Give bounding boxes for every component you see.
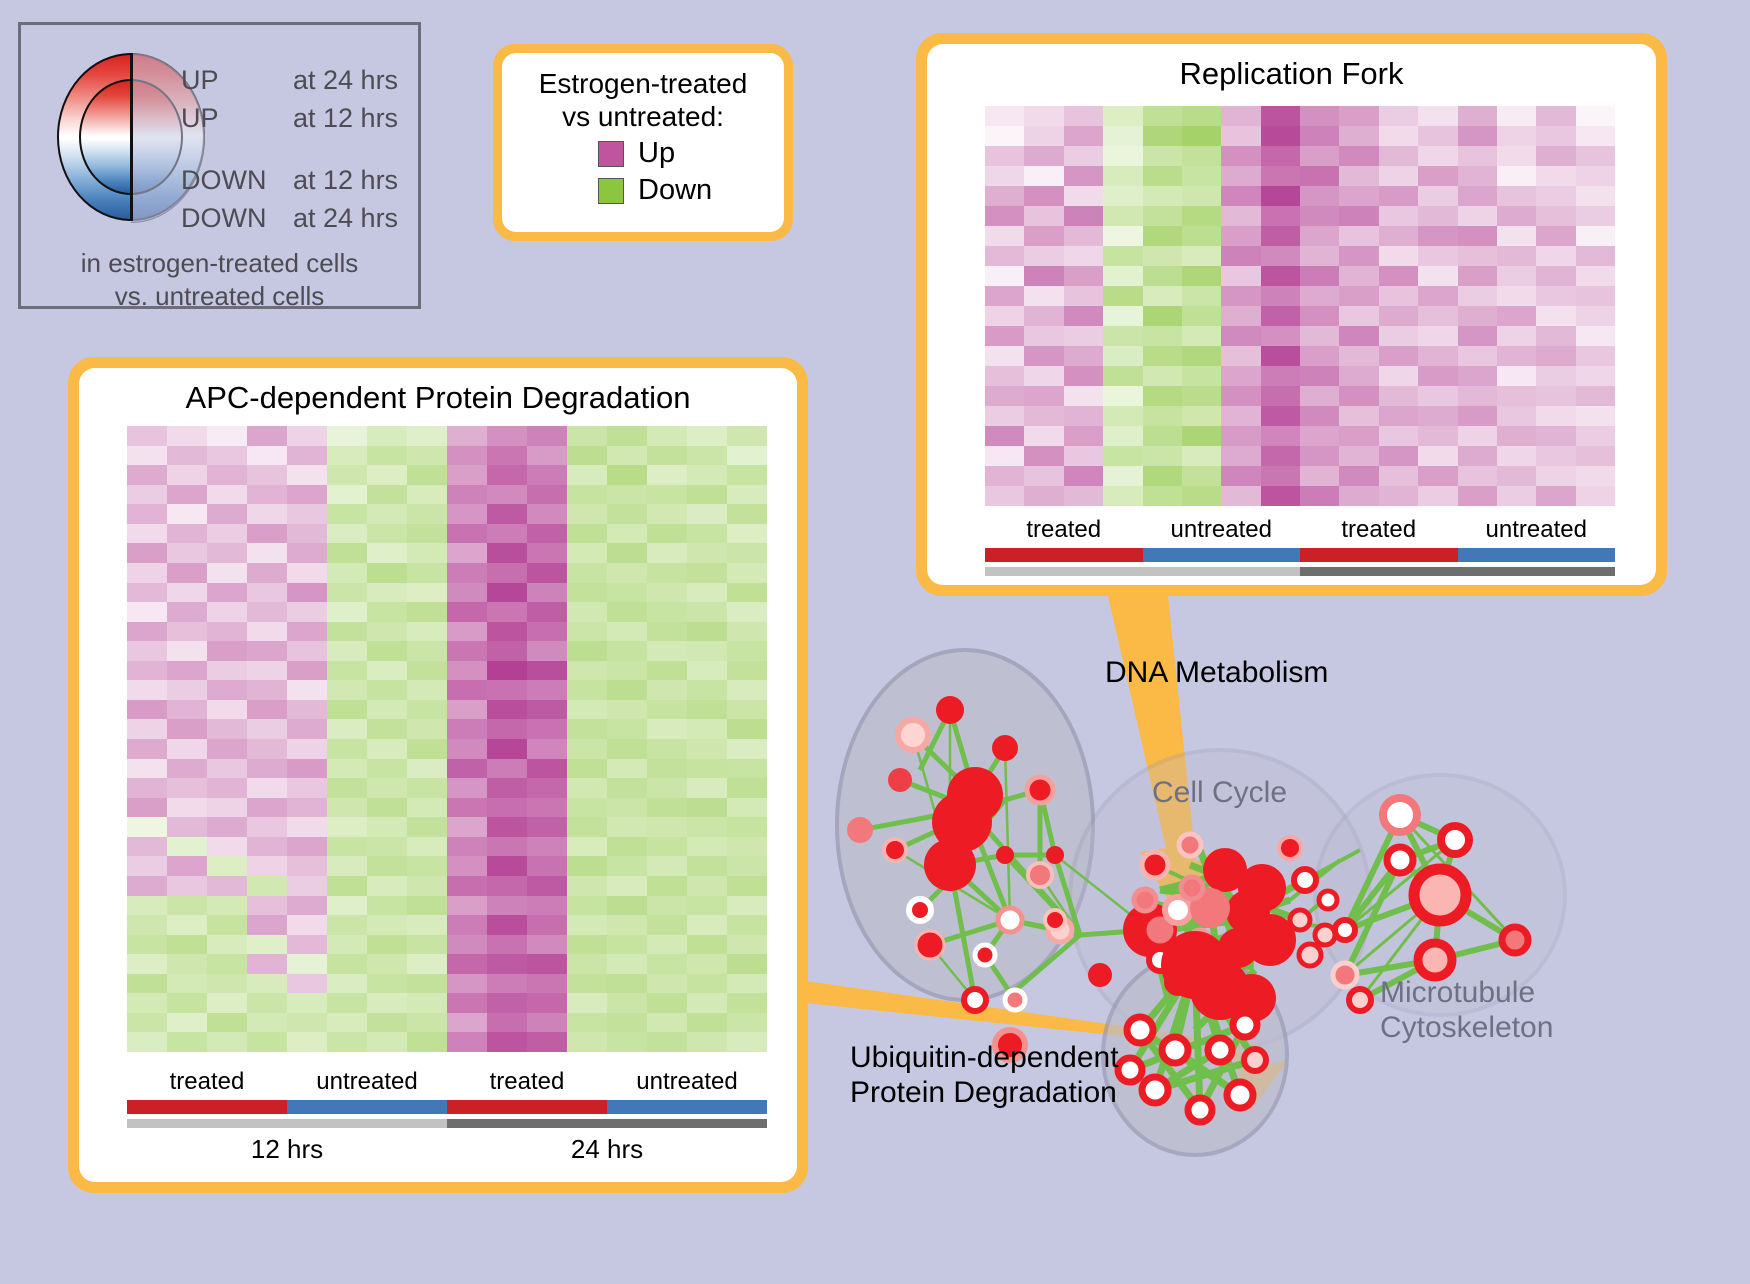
heatmap-cell [367,798,407,818]
heatmap-cell [1064,306,1103,326]
heatmap-cell [1143,146,1182,166]
heatmap-cell [1064,206,1103,226]
heatmap-cell [167,876,207,896]
heatmap-cell [287,583,327,603]
heatmap-cell [1418,166,1457,186]
heatmap-cell [1418,146,1457,166]
heatmap-cell [447,817,487,837]
heatmap-cell [407,915,447,935]
heatmap-cell [407,935,447,955]
timepoint-bar-segment [985,567,1300,576]
heatmap-cell [367,602,407,622]
treatment-bar-segment [127,1100,287,1114]
heatmap-cell [1418,406,1457,426]
heatmap-cell [1261,106,1300,126]
heatmap-cell [207,680,247,700]
timepoint-label: 12 hrs [985,582,1300,585]
heatmap-cell [1379,486,1418,506]
heatmap-cell [447,563,487,583]
heatmap-cell [1379,266,1418,286]
heatmap-cell [607,485,647,505]
heatmap-cell [1221,486,1260,506]
heatmap-cell [447,719,487,739]
heatmap-cell [287,602,327,622]
heatmap-cell [1536,166,1575,186]
heatmap-cell [607,563,647,583]
heatmap-cell [287,485,327,505]
heatmap-cell [447,426,487,446]
heatmap-cell [527,563,567,583]
heatmap-cell [1182,266,1221,286]
heatmap-cell [687,583,727,603]
heatmap-cell [647,661,687,681]
heatmap-cell [1103,386,1142,406]
heatmap-cell [1182,466,1221,486]
heatmap-cell [487,661,527,681]
heatmap-cell [327,876,367,896]
heatmap-cell [985,366,1024,386]
heatmap-cell [367,700,407,720]
heatmap-cell [727,739,767,759]
heatmap-cell [1064,286,1103,306]
heatmap-cell [1064,446,1103,466]
heatmap-cell [647,426,687,446]
heatmap-cell [1143,106,1182,126]
heatmap-cell [367,935,407,955]
heatmap-cell [1221,326,1260,346]
heatmap-cell [447,700,487,720]
heatmap-cell [567,739,607,759]
heatmap-cell [687,915,727,935]
heatmap-cell [607,798,647,818]
heatmap-cell [527,446,567,466]
heatmap-cell [407,1013,447,1033]
heatmap-cell [167,856,207,876]
heatmap-cell [1024,226,1063,246]
heatmap-cell [647,993,687,1013]
heatmap-cell [607,426,647,446]
heatmap-cell [247,680,287,700]
heatmap-cell [1458,426,1497,446]
heatmap-cell [247,896,287,916]
heatmap-cell [247,563,287,583]
heatmap-cell [687,602,727,622]
heatmap-cell [1536,306,1575,326]
heatmap-cell [1458,146,1497,166]
heatmap-cell [687,543,727,563]
heatmap-cell [327,641,367,661]
heatmap-cell [607,993,647,1013]
heatmap-cell [727,896,767,916]
heatmap-cell [985,246,1024,266]
heatmap-cell [247,465,287,485]
heatmap-cell [1576,106,1615,126]
heatmap-cell [287,641,327,661]
heatmap-cell [1339,146,1378,166]
heatmap-cell [1576,346,1615,366]
heatmap-cell [1458,266,1497,286]
heatmap-cell [1103,186,1142,206]
treatment-bar-segment [1300,548,1458,562]
heatmap-cell [127,485,167,505]
column-group-labels: treateduntreatedtreateduntreated [985,516,1615,544]
heatmap-cell [1497,366,1536,386]
heatmap-cell [207,837,247,857]
heatmap-cell [647,543,687,563]
heatmap-cell [127,446,167,466]
cluster-label-microtubule-cytoskeleton: Microtubule Cytoskeleton [1380,975,1553,1046]
heatmap-cell [647,1013,687,1033]
heatmap-cell [207,719,247,739]
heatmap-cell [985,286,1024,306]
heatmap-cell [607,661,647,681]
heatmap-cell [127,583,167,603]
heatmap-cell [1064,166,1103,186]
panel-annotations-replication-fork: treateduntreatedtreateduntreated 12 hrs2… [985,516,1615,585]
heatmap-cell [1576,406,1615,426]
heatmap-cell [527,935,567,955]
heatmap-cell [447,798,487,818]
heatmap-cell [1497,446,1536,466]
heatmap-cell [247,778,287,798]
heatmap-cell [1261,306,1300,326]
heatmap-cell [1458,246,1497,266]
heatmap-cell [367,778,407,798]
heatmap-cell [447,622,487,642]
heatmap-cell [1497,326,1536,346]
heatmap-cell [1458,106,1497,126]
heatmap-cell [1379,106,1418,126]
heatmap-cell [687,661,727,681]
heatmap-cell [1497,266,1536,286]
heatmap-cell [447,602,487,622]
heatmap-cell [127,504,167,524]
heatmap-cell [1024,386,1063,406]
heatmap-cell [1497,406,1536,426]
heatmap-cell [607,719,647,739]
heatmap-cell [1143,166,1182,186]
heatmap-cell [327,661,367,681]
heatmap-cell [527,719,567,739]
heatmap-cell [487,563,527,583]
heatmap-cell [1143,326,1182,346]
heatmap-cell [487,915,527,935]
heatmap-cell [1143,406,1182,426]
heatmap-cell [1143,306,1182,326]
heatmap-cell [985,266,1024,286]
heatmap-cell [207,641,247,661]
heatmap-cell [327,739,367,759]
heatmap-cell [567,563,607,583]
heatmap-cell [727,602,767,622]
heatmap-cell [407,485,447,505]
heatmap-cell [1458,206,1497,226]
heatmap-cell [647,446,687,466]
heatmap-cell [127,622,167,642]
heatmap-cell [1261,466,1300,486]
heatmap-cell [607,935,647,955]
heatmap-cell [1064,486,1103,506]
heatmap-cell [1300,366,1339,386]
heatmap-cell [1064,146,1103,166]
heatmap-cell [1536,106,1575,126]
heatmap-cell [167,778,207,798]
heatmap-cell [1024,306,1063,326]
heatmap-cell [1379,126,1418,146]
heatmap-cell [1103,206,1142,226]
heatmap-cell [327,935,367,955]
heatmap-cell [1143,266,1182,286]
heatmap-cell [1339,166,1378,186]
heatmap-cell [127,935,167,955]
heatmap-cell [647,622,687,642]
heatmap-cell [127,856,167,876]
heatmap-cell [1064,366,1103,386]
heatmap-cell [1182,106,1221,126]
heatmap-cell [607,1013,647,1033]
heatmap-cell [167,485,207,505]
panel-apc-dependent-protein-degradation: APC-dependent Protein Degradation treate… [68,357,808,1193]
heatmap-cell [287,935,327,955]
heatmap-cell [1103,246,1142,266]
heatmap-cell [727,426,767,446]
heatmap-cell [207,798,247,818]
heatmap-cell [1497,466,1536,486]
heatmap-cell [567,602,607,622]
heatmap-cell [327,524,367,544]
heatmap-cell [287,622,327,642]
heatmap-cell [127,719,167,739]
heatmap-cell [407,876,447,896]
heatmap-cell [287,543,327,563]
heatmap-cell [1300,226,1339,246]
heatmap-cell [327,563,367,583]
heatmap-cell [487,778,527,798]
heatmap-cell [1418,266,1457,286]
heatmap-cell [487,602,527,622]
heatmap-cell [207,935,247,955]
heatmap-cell [327,583,367,603]
heatmap-cell [127,661,167,681]
heatmap-cell [207,759,247,779]
heatmap-cell [1143,486,1182,506]
heatmap-cell [247,993,287,1013]
heatmap-cell [247,876,287,896]
heatmap-cell [1576,146,1615,166]
heatmap-cell [687,563,727,583]
heatmap-cell [1064,386,1103,406]
heatmap-cell [527,739,567,759]
heatmap-cell [287,426,327,446]
heatmap-cell [1497,226,1536,246]
heatmap-cell [1379,406,1418,426]
heatmap-cell [1221,286,1260,306]
cluster-label-cell-cycle: Cell Cycle [1152,775,1287,810]
heatmap-cell [727,504,767,524]
heatmap-cell [1379,346,1418,366]
heatmap-cell [527,465,567,485]
heatmap-cell [567,876,607,896]
heatmap-cell [1064,346,1103,366]
heatmap-cell [1458,226,1497,246]
heatmap-cell [1379,246,1418,266]
heatmap-cell [1221,406,1260,426]
heatmap-cell [487,524,527,544]
heatmap-cell [1458,446,1497,466]
heatmap-cell [1261,486,1300,506]
heatmap-cell [1536,126,1575,146]
heatmap-cell [1300,466,1339,486]
heatmap-cell [607,446,647,466]
heatmap-cell [607,876,647,896]
heatmap-cell [287,465,327,485]
heatmap-cell [247,661,287,681]
heatmap-cell [367,446,407,466]
heatmap-cell [1497,106,1536,126]
heatmap-cell [487,954,527,974]
heatmap-cell [1458,326,1497,346]
heatmap-cell [1064,466,1103,486]
heatmap-cell [1300,246,1339,266]
heatmap-cell [167,896,207,916]
heatmap-cell [1458,486,1497,506]
heatmap-cell [1536,186,1575,206]
heatmap-cell [127,1013,167,1033]
heatmap-cell [727,446,767,466]
heatmap-cell [287,915,327,935]
heatmap-cell [527,954,567,974]
heatmap-cell [1379,166,1418,186]
heatmap-cell [1379,386,1418,406]
heatmap-cell [487,680,527,700]
heatmap-cell [647,954,687,974]
heatmap-cell [487,856,527,876]
heatmap-cell [167,915,207,935]
heatmap-cell [1458,186,1497,206]
heatmap-cell [1418,426,1457,446]
heatmap-cell [407,661,447,681]
heatmap-cell [1300,486,1339,506]
heatmap-cell [1103,466,1142,486]
heatmap-cell [1261,426,1300,446]
heatmap-cell [1221,246,1260,266]
heatmap-cell [1261,186,1300,206]
heatmap-cell [407,993,447,1013]
heatmap-cell [247,446,287,466]
heatmap-cell [607,1032,647,1052]
heatmap-cell [327,798,367,818]
heatmap-cell [407,504,447,524]
heatmap-cell [1418,186,1457,206]
heatmap-cell [1300,306,1339,326]
heatmap-cell [247,1032,287,1052]
heatmap-cell [127,700,167,720]
heatmap-cell [1261,246,1300,266]
heatmap-cell [567,856,607,876]
heatmap-cell [167,641,207,661]
heatmap-cell [487,837,527,857]
heatmap-cell [1182,306,1221,326]
heatmap-cell [607,680,647,700]
heatmap-cell [407,817,447,837]
heatmap-cell [567,1013,607,1033]
heatmap-cell [367,680,407,700]
heatmap-cell [247,641,287,661]
heatmap-cell [1576,286,1615,306]
heatmap-cell [527,622,567,642]
heatmap-cell [1418,286,1457,306]
heatmap-cell [607,622,647,642]
heatmap-cell [1300,186,1339,206]
heatmap-cell [687,876,727,896]
heatmap-cell [1536,366,1575,386]
heatmap-cell [1024,466,1063,486]
heatmap-cell [247,700,287,720]
heatmap-cell [167,719,207,739]
heatmap-cell [727,641,767,661]
heatmap-cell [207,915,247,935]
heatmap-cell [1339,406,1378,426]
timepoint-label: 24 hrs [1300,582,1615,585]
heatmap-cell [1103,426,1142,446]
heatmap-cell [687,485,727,505]
heatmap-cell [985,166,1024,186]
heatmap-cell [1024,106,1063,126]
heatmap-cell [687,759,727,779]
heatmap-cell [1536,426,1575,446]
heatmap-cell [407,465,447,485]
heatmap-cell [367,856,407,876]
heatmap-cell [487,622,527,642]
heatmap-cell [727,974,767,994]
heatmap-cell [647,680,687,700]
heatmap-cell [1024,406,1063,426]
heatmap-cell [207,446,247,466]
heatmap-cell [407,719,447,739]
heatmap-cell [647,641,687,661]
heatmap-cell [1261,346,1300,366]
heatmap-cell [327,817,367,837]
heatmap-cell [1300,386,1339,406]
heatmap-cell [367,583,407,603]
heatmap-cell [1339,386,1378,406]
heatmap-cell [407,837,447,857]
heatmap-cell [567,1032,607,1052]
heatmap-cell [487,759,527,779]
heatmap-cell [327,465,367,485]
heatmap-cell [247,485,287,505]
heatmap-cell [527,661,567,681]
heatmap-cell [1182,346,1221,366]
heatmap-cell [247,759,287,779]
heatmap-cell [527,778,567,798]
heatmap-cell [1458,366,1497,386]
heatmap-cell [1221,126,1260,146]
heatmap-cell [1024,206,1063,226]
heatmap-cell [1261,206,1300,226]
heatmap-cell [985,426,1024,446]
heatmap-cell [1339,486,1378,506]
heatmap-cell [127,641,167,661]
heatmap-cell [327,759,367,779]
heatmap-cell [207,583,247,603]
heatmap-cell [1339,206,1378,226]
heatmap-cell [447,778,487,798]
heatmap-cell [567,465,607,485]
heatmap-cell [1458,126,1497,146]
heatmap-cell [1024,426,1063,446]
heatmap-cell [1143,206,1182,226]
